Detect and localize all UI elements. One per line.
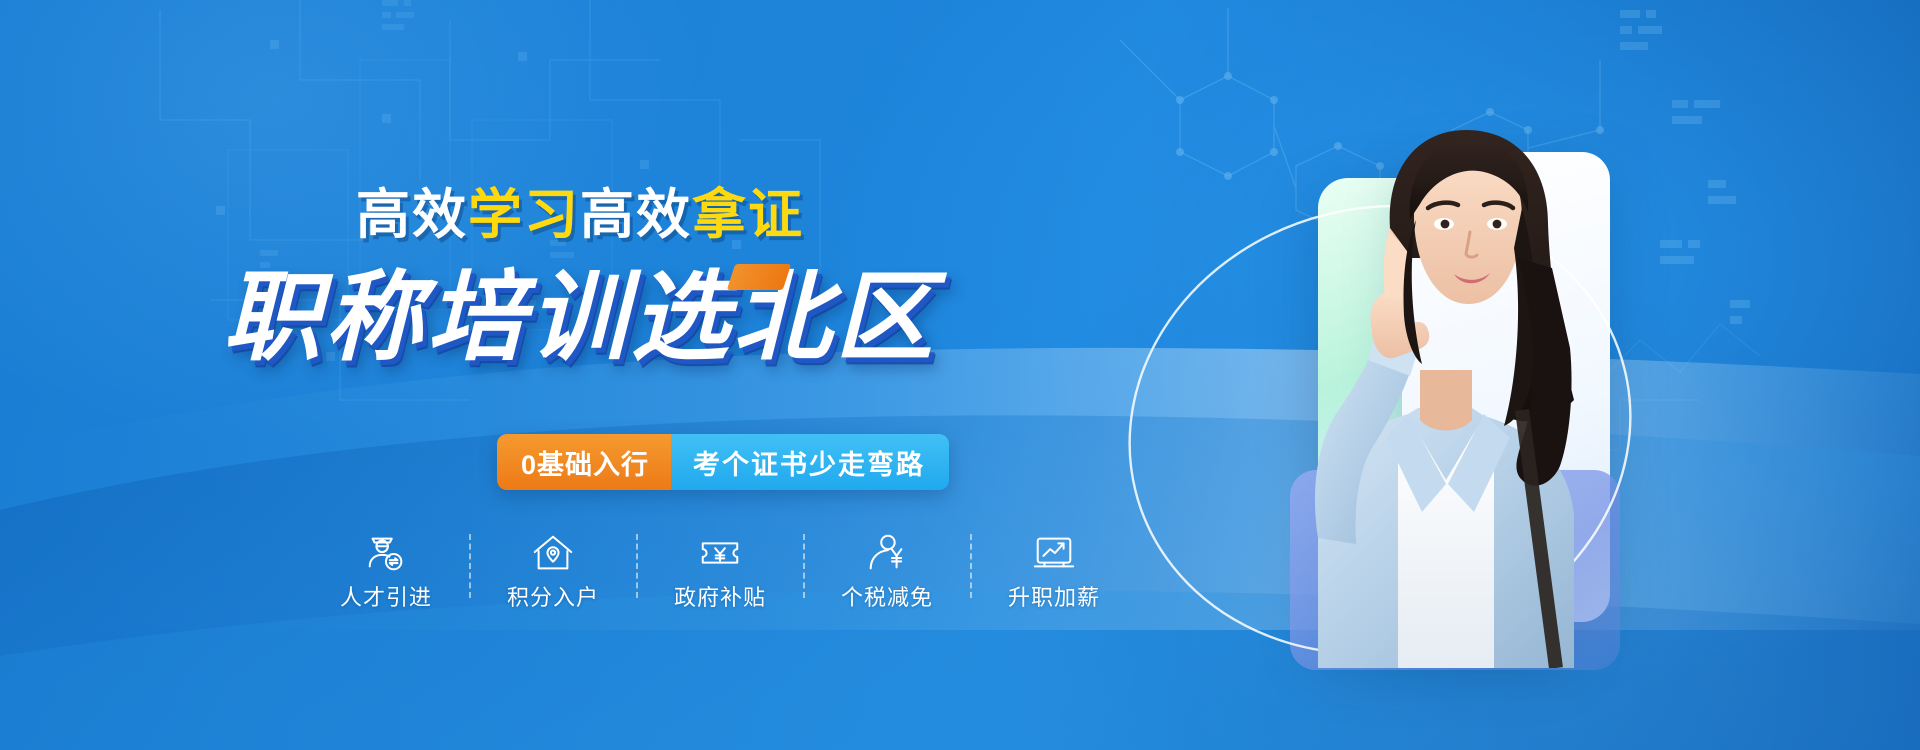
feature-divider <box>803 534 805 598</box>
feature-item-promotion-raise[interactable]: 升职加薪 <box>988 530 1120 609</box>
ticket-yuan-icon <box>697 530 743 576</box>
headline-seg-3: 高效 <box>580 185 692 245</box>
feature-label: 政府补贴 <box>674 587 766 609</box>
growth-chart-icon <box>1031 530 1077 576</box>
banner-copy: 高效学习高效拿证 职称培训选北区 0基础入行 考个证书少走弯路 <box>0 0 1160 750</box>
person-yuan-icon <box>864 530 910 576</box>
headline-primary: 职称培训选北区 <box>223 268 937 366</box>
feature-item-points-residency[interactable]: 积分入户 <box>487 530 619 609</box>
feature-divider <box>970 534 972 598</box>
headline-seg-2-highlight: 学习 <box>468 185 580 245</box>
feature-item-talent-introduction[interactable]: 人才引进 <box>320 530 452 609</box>
promo-banner: 高效学习高效拿证 职称培训选北区 0基础入行 考个证书少走弯路 <box>0 0 1920 750</box>
feature-label: 个税减免 <box>841 587 933 609</box>
feature-label: 升职加薪 <box>1008 587 1100 609</box>
feature-label: 积分入户 <box>507 587 599 609</box>
house-pin-icon <box>530 530 576 576</box>
headline-secondary: 高效学习高效拿证 <box>0 188 1160 242</box>
badge-left-label: 0基础入行 <box>497 434 671 490</box>
feature-item-tax-reduction[interactable]: 个税减免 <box>821 530 953 609</box>
headline-primary-wrap: 职称培训选北区 <box>0 268 1160 366</box>
feature-label: 人才引进 <box>340 587 432 609</box>
badge-right-label: 考个证书少走弯路 <box>671 434 949 490</box>
orange-accent-bar-icon <box>727 264 791 290</box>
feature-list: 人才引进 积分入户 <box>320 530 1120 630</box>
graduate-person-icon <box>363 530 409 576</box>
headline-seg-4-highlight: 拿证 <box>692 185 804 245</box>
feature-item-government-subsidy[interactable]: 政府补贴 <box>654 530 786 609</box>
feature-divider <box>636 534 638 598</box>
feature-divider <box>469 534 471 598</box>
model-photo-woman-pointing <box>1222 108 1642 668</box>
headline-seg-1: 高效 <box>356 185 468 245</box>
headline-primary-text: 职称培训选北区 <box>223 262 937 372</box>
tagline-badge: 0基础入行 考个证书少走弯路 <box>497 434 949 490</box>
